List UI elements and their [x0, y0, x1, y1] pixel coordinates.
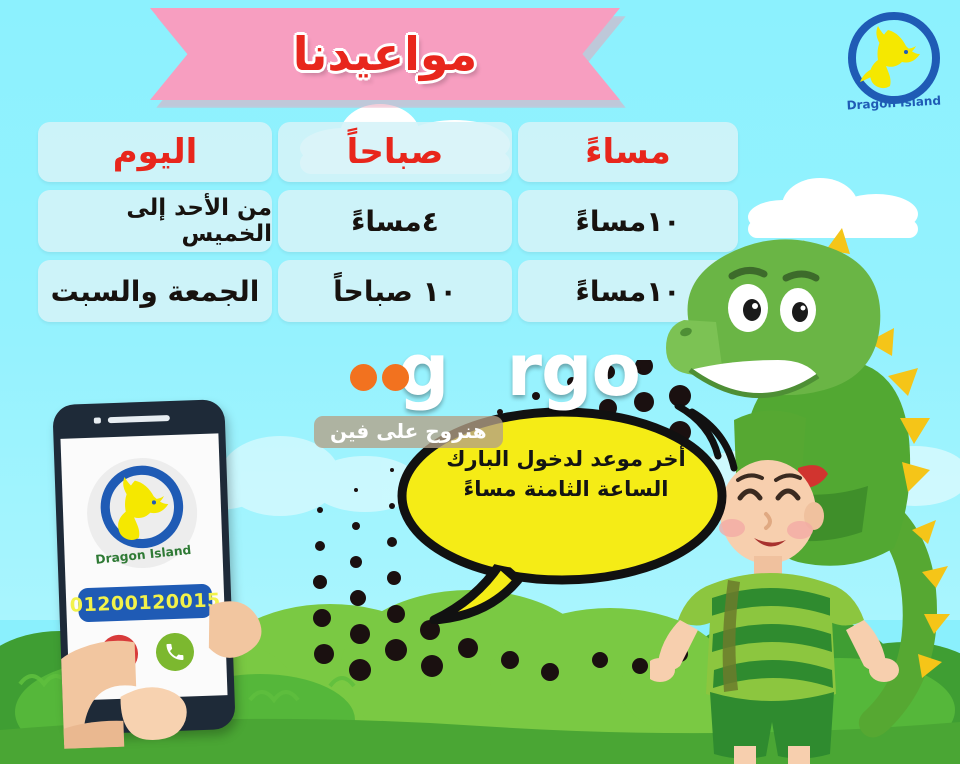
- value-morning-1: ٤مساءً: [351, 205, 439, 238]
- watermark-g2: g: [541, 328, 592, 412]
- poster: مواعيدنا Dragon Island مساءً صباحاً اليو…: [0, 0, 960, 764]
- schedule-table: مساءً صباحاً اليوم ١٠مساءً ٤مساءً من الأ…: [38, 122, 738, 330]
- brand-logo[interactable]: Dragon Island: [840, 8, 948, 116]
- table-header-row: مساءً صباحاً اليوم: [38, 122, 738, 182]
- value-day-1: من الأحد إلى الخميس: [38, 195, 272, 247]
- watermark-dot-1: [350, 364, 377, 391]
- notice-line-1: أخر موعد لدخول البارك: [416, 444, 716, 474]
- hand-illustration: [58, 550, 314, 749]
- cell-morning-1: ٤مساءً: [278, 190, 512, 252]
- header-cell-day: اليوم: [38, 122, 272, 182]
- watermark-r: r: [506, 328, 541, 412]
- table-row: ١٠مساءً ٤مساءً من الأحد إلى الخميس: [38, 190, 738, 252]
- value-day-2: الجمعة والسبت: [51, 275, 260, 308]
- watermark-tagline: هنروح على فين: [314, 416, 503, 448]
- watermark-o: o: [592, 328, 640, 412]
- banner: مواعيدنا: [150, 8, 620, 108]
- watermark-dot-2: [382, 364, 409, 391]
- banner-ribbon: مواعيدنا: [150, 8, 620, 100]
- header-label-morning: صباحاً: [347, 132, 444, 172]
- svg-text:Dragon Island: Dragon Island: [846, 94, 941, 113]
- header-label-evening: مساءً: [585, 132, 671, 172]
- notice-line-2: الساعة الثامنة مساءً: [416, 474, 716, 504]
- cell-day-1: من الأحد إلى الخميس: [38, 190, 272, 252]
- watermark-word: grgo: [300, 334, 640, 406]
- phone-brand-logo: Dragon Island: [85, 456, 199, 570]
- table-row: ١٠مساءً ١٠ صباحاً الجمعة والسبت: [38, 260, 738, 322]
- cell-day-2: الجمعة والسبت: [38, 260, 272, 322]
- cell-morning-2: ١٠ صباحاً: [278, 260, 512, 322]
- dragon-head-icon: Dragon Island: [85, 456, 199, 570]
- dragon-head-icon: Dragon Island: [840, 8, 948, 116]
- header-label-day: اليوم: [113, 132, 198, 172]
- watermark: grgo هنروح على فين: [300, 334, 640, 444]
- header-cell-morning: صباحاً: [278, 122, 512, 182]
- value-morning-2: ١٠ صباحاً: [333, 275, 457, 308]
- notice-text: أخر موعد لدخول البارك الساعة الثامنة مسا…: [416, 444, 716, 505]
- page-title: مواعيدنا: [293, 31, 477, 77]
- phone-illustration: Dragon Island 01200120015: [52, 399, 235, 735]
- header-cell-evening: مساءً: [518, 122, 738, 182]
